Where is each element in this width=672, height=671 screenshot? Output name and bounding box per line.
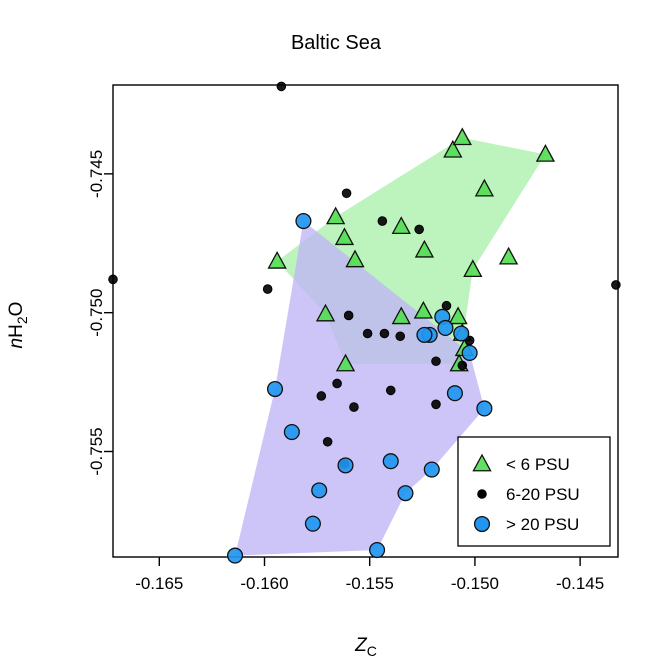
point-6to20psu xyxy=(109,275,118,284)
point-gt20psu xyxy=(268,382,283,397)
x-tick-label: -0.160 xyxy=(240,574,288,593)
point-6to20psu xyxy=(432,357,441,366)
point-gt20psu xyxy=(228,548,243,563)
point-6to20psu xyxy=(344,311,353,320)
point-6to20psu xyxy=(263,285,272,294)
point-gt20psu xyxy=(284,425,299,440)
point-6to20psu xyxy=(432,400,441,409)
point-6to20psu xyxy=(396,332,405,341)
point-gt20psu xyxy=(338,458,353,473)
point-gt20psu xyxy=(305,516,320,531)
point-6to20psu xyxy=(323,437,332,446)
point-gt20psu xyxy=(370,543,385,558)
point-gt20psu xyxy=(398,486,413,501)
y-tick-label: -0.755 xyxy=(87,427,106,475)
y-tick-label: -0.745 xyxy=(87,150,106,198)
point-gt20psu xyxy=(477,401,492,416)
point-gt20psu xyxy=(448,386,463,401)
point-gt20psu xyxy=(296,214,311,229)
chart-title: Baltic Sea xyxy=(291,32,382,54)
point-6to20psu xyxy=(277,82,286,91)
x-tick-label: -0.155 xyxy=(346,574,394,593)
point-6to20psu xyxy=(380,329,389,338)
point-6to20psu xyxy=(458,361,467,370)
legend-label: < 6 PSU xyxy=(506,455,570,474)
chart-canvas: Baltic Sea-0.165-0.160-0.155-0.150-0.145… xyxy=(0,0,672,671)
point-6to20psu xyxy=(350,403,359,412)
point-6to20psu xyxy=(415,225,424,234)
point-6to20psu xyxy=(363,329,372,338)
point-gt20psu xyxy=(383,454,398,469)
point-gt20psu xyxy=(424,462,439,477)
point-6to20psu xyxy=(386,386,395,395)
x-tick-label: -0.145 xyxy=(556,574,604,593)
point-6to20psu xyxy=(333,379,342,388)
y-axis-label: nH2O xyxy=(6,302,30,349)
point-6to20psu xyxy=(442,301,451,310)
legend-label: > 20 PSU xyxy=(506,515,579,534)
x-tick-label: -0.150 xyxy=(451,574,499,593)
point-gt20psu xyxy=(417,327,432,342)
legend-marker-gt20psu xyxy=(475,517,490,532)
legend-marker-6to20psu xyxy=(478,490,487,499)
x-axis-label: ZC xyxy=(354,635,377,659)
point-gt20psu xyxy=(312,483,327,498)
y-tick-label: -0.750 xyxy=(87,289,106,337)
x-tick-label: -0.165 xyxy=(135,574,183,593)
scatter-plot: Baltic Sea-0.165-0.160-0.155-0.150-0.145… xyxy=(0,0,672,671)
point-gt20psu xyxy=(462,346,477,361)
point-6to20psu xyxy=(612,281,621,290)
point-gt20psu xyxy=(454,326,469,341)
legend-label: 6-20 PSU xyxy=(506,485,580,504)
point-6to20psu xyxy=(317,392,326,401)
point-gt20psu xyxy=(438,321,453,336)
point-6to20psu xyxy=(378,217,387,226)
point-6to20psu xyxy=(342,189,351,198)
